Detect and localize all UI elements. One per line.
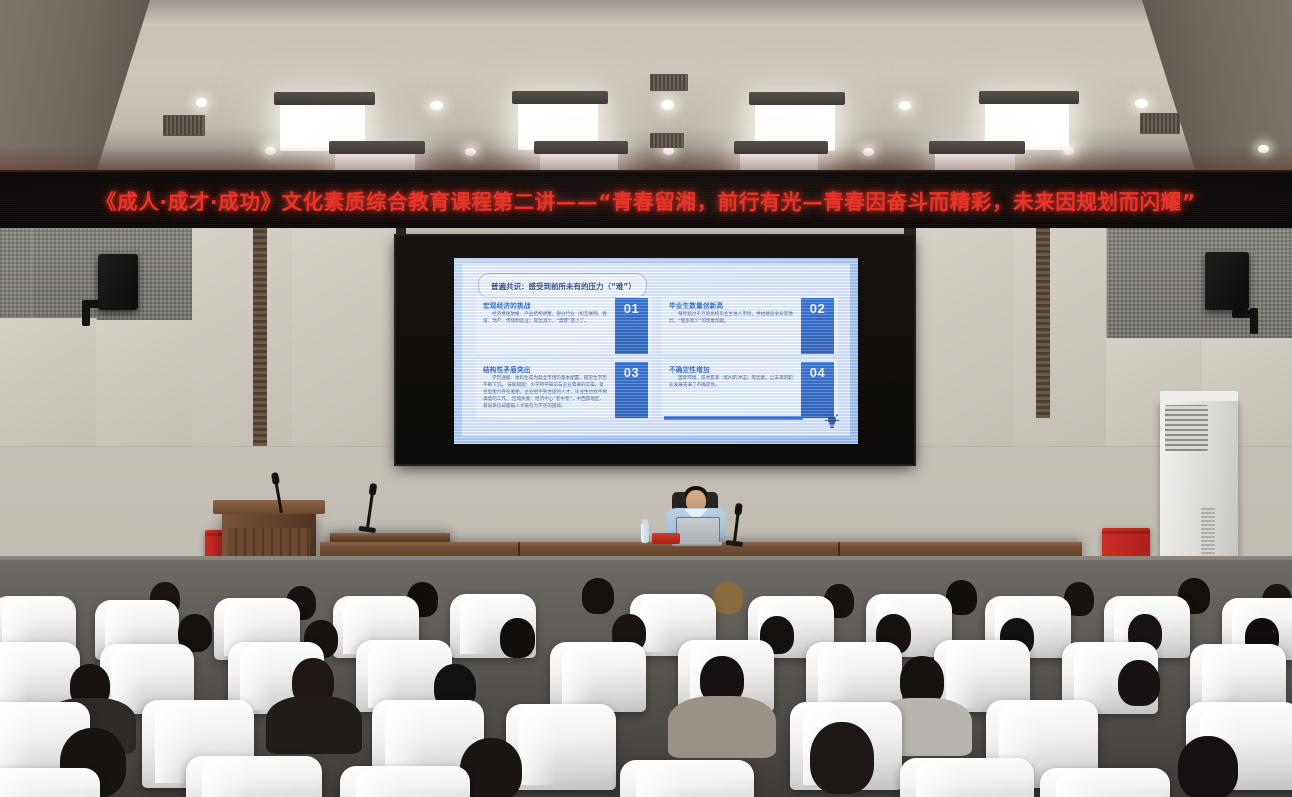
- attendee-head: [810, 722, 874, 794]
- slide-card-number: 01: [615, 298, 648, 354]
- slide-card-heading: 毕业生数量创新高: [669, 300, 794, 310]
- slide-card-heading: 结构性矛盾突出: [483, 364, 608, 374]
- slide-title: 普遍共识：感受到前所未有的压力（“难”）: [478, 273, 647, 298]
- auditorium-scene: 《成人·成才·成功》文化素质综合教育课程第二讲——“青春留湘，前行有光—青春因奋…: [0, 0, 1292, 797]
- wall-tile: [1014, 228, 1107, 447]
- slide-card-number: 04: [801, 362, 834, 418]
- bottle-cap: [642, 519, 648, 524]
- acoustic-panel-right: [1105, 228, 1292, 338]
- air-conditioner-unit: [1160, 400, 1238, 582]
- wall-tile: [0, 318, 97, 447]
- slide-card-body: 经济增速放缓、产业结构调整，部分行业（如互联网、教培、地产、传统制造业）岗位减少…: [483, 312, 608, 326]
- lightbulb-icon: [824, 412, 840, 430]
- ceiling-downlight: [430, 101, 443, 110]
- ceiling-vent: [650, 74, 688, 91]
- slide-card: 结构性矛盾突出 学历通胀：本科生成为就业市场的基本配置，研究生学历不断下沉。 技…: [476, 360, 652, 418]
- ceiling-downlight: [196, 98, 207, 107]
- slide-card-body: 每年超过千万的高校毕业生进入市场，供给端竞争异常激烈，“僧多粥少”的现象加剧。: [669, 312, 794, 326]
- attendee-head: [582, 578, 614, 614]
- chair: [506, 704, 616, 790]
- lectern-top: [213, 500, 325, 514]
- chair: [900, 758, 1034, 797]
- attendee-shoulders: [266, 696, 362, 754]
- chair: [186, 756, 322, 797]
- slide-card-body: 学历通胀：本科生成为就业市场的基本配置，研究生学历不断下沉。 技能错配：大学所学…: [483, 376, 608, 410]
- ceiling-downlight: [661, 100, 674, 110]
- wall-tile: [916, 228, 1015, 447]
- attendee-head: [1118, 660, 1160, 706]
- wall-tile: [292, 228, 397, 447]
- ceiling-vent: [1140, 113, 1180, 134]
- slide-card-number: 02: [801, 298, 834, 354]
- attendee-head: [713, 582, 743, 614]
- attendee-head: [1178, 736, 1238, 797]
- wall-tile: [192, 228, 293, 447]
- ceiling: [0, 0, 1292, 176]
- projection-screen-bezel: 普遍共识：感受到前所未有的压力（“难”） 宏观经济的挑战 经济增速放缓、产业结构…: [396, 236, 914, 464]
- chair: [620, 760, 754, 797]
- table-top-edge: [330, 533, 450, 540]
- slide-card: 宏观经济的挑战 经济增速放缓、产业结构调整，部分行业（如互联网、教培、地产、传统…: [476, 296, 652, 354]
- audience-area: [0, 560, 1292, 797]
- ceiling-vent: [163, 115, 205, 136]
- ceiling-downlight: [899, 101, 911, 110]
- attendee-shoulders: [668, 696, 776, 758]
- ceiling-downlight: [1135, 99, 1148, 108]
- ac-grille: [1165, 405, 1208, 451]
- slide-accent-bar: [664, 416, 804, 420]
- slide-title-text: 普遍共识：感受到前所未有的压力（“难”）: [491, 282, 636, 291]
- chair: [340, 766, 470, 797]
- projection-screen: 普遍共识：感受到前所未有的压力（“难”） 宏观经济的挑战 经济增速放缓、产业结构…: [454, 258, 858, 444]
- red-box: [652, 533, 680, 544]
- wall-speaker-left: [98, 254, 138, 310]
- slide-card: 毕业生数量创新高 每年超过千万的高校毕业生进入市场，供给端竞争异常激烈，“僧多粥…: [662, 296, 838, 354]
- slide-card: 不确定性增加 国际环境、技术变革（如AI的冲击）等因素，让未来的职业发展充满了不…: [662, 360, 838, 418]
- slide-card-heading: 宏观经济的挑战: [483, 300, 608, 310]
- slide-card-grid: 宏观经济的挑战 经济增速放缓、产业结构调整，部分行业（如互联网、教培、地产、传统…: [476, 296, 838, 418]
- water-bottle: [641, 523, 649, 543]
- wood-slat-strip-left: [253, 228, 267, 446]
- slide-card-body: 国际环境、技术变革（如AI的冲击）等因素，让未来的职业发展充满了不确定性。: [669, 376, 794, 390]
- presentation-slide: 普遍共识：感受到前所未有的压力（“难”） 宏观经济的挑战 经济增速放缓、产业结构…: [462, 264, 850, 436]
- laptop-screen: [676, 517, 720, 545]
- ceiling-edge-trim: [0, 0, 1292, 26]
- chair: [1040, 768, 1170, 797]
- wood-slat-strip-right: [1036, 228, 1050, 418]
- led-banner: 《成人·成才·成功》文化素质综合教育课程第二讲——“青春留湘，前行有光—青春因奋…: [0, 172, 1292, 228]
- led-banner-text: 《成人·成才·成功》文化素质综合教育课程第二讲——“青春留湘，前行有光—青春因奋…: [96, 185, 1196, 215]
- wall-tile: [96, 320, 193, 447]
- speaker-mount-left-post: [82, 300, 90, 326]
- speaker-mount-right-post: [1250, 308, 1258, 334]
- attendee-head: [500, 618, 535, 658]
- chair: [550, 642, 646, 712]
- slide-card-heading: 不确定性增加: [669, 364, 794, 374]
- chair: [0, 768, 100, 797]
- ac-top-cap: [1160, 391, 1238, 401]
- wall-speaker-right: [1205, 252, 1249, 310]
- slide-card-number: 03: [615, 362, 648, 418]
